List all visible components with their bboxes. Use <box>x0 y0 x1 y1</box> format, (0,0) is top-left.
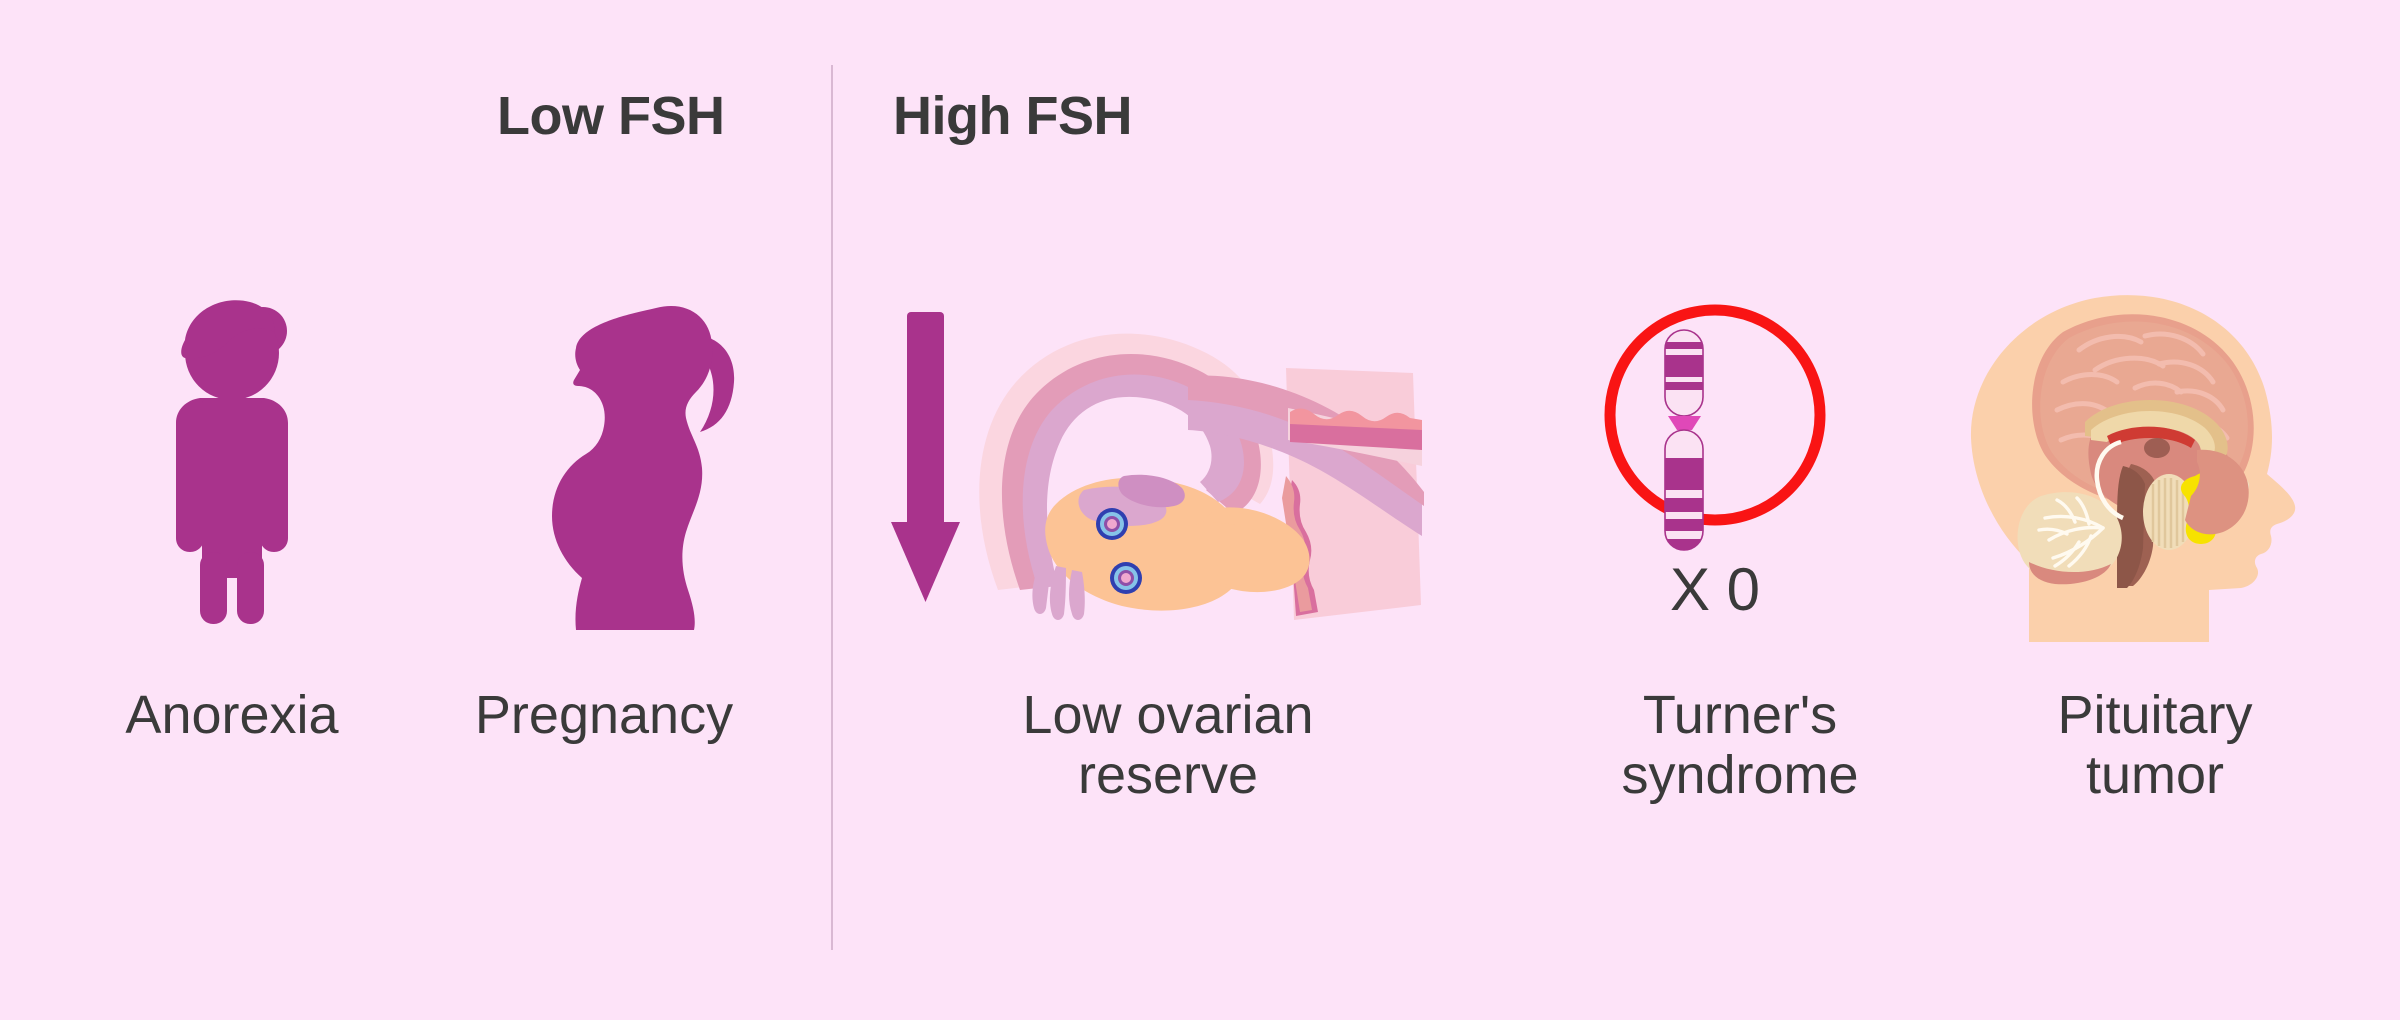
head-brain-pituitary-icon <box>1945 290 2365 670</box>
item-label-pituitary-tumor: Pituitary tumor <box>1945 685 2365 806</box>
item-label-low-ovarian-reserve: Low ovarian reserve <box>888 685 1448 806</box>
infographic-canvas: Low FSH High FSH <box>0 0 2400 1020</box>
x-chromosome-circle-icon: X 0 <box>1560 290 1920 630</box>
column-divider <box>831 65 833 950</box>
item-label-anorexia: Anorexia <box>52 685 412 745</box>
item-low-ovarian-reserve: Low ovarian reserve <box>888 290 1448 930</box>
item-label-pregnancy: Pregnancy <box>424 685 784 745</box>
karyotype-label: X 0 <box>1670 556 1760 623</box>
item-anorexia: Anorexia <box>52 290 412 930</box>
chromosome-icon <box>1664 330 1704 553</box>
uterus-ovary-down-arrow-icon <box>888 290 1448 630</box>
follicle-icon <box>1110 562 1142 594</box>
item-label-turners-syndrome: Turner's syndrome <box>1560 685 1920 806</box>
item-pregnancy: Pregnancy <box>424 290 784 930</box>
red-circle-icon <box>1610 310 1820 520</box>
pregnant-silhouette-icon <box>424 290 784 630</box>
down-arrow-icon <box>891 312 960 602</box>
female-figure-icon <box>52 290 412 630</box>
item-pituitary-tumor: Pituitary tumor <box>1945 290 2365 930</box>
item-turners-syndrome: X 0 Turner's syndrome <box>1560 290 1920 930</box>
follicle-icon <box>1096 508 1128 540</box>
column-header-high-fsh: High FSH <box>893 85 1132 147</box>
column-header-low-fsh: Low FSH <box>497 85 724 147</box>
